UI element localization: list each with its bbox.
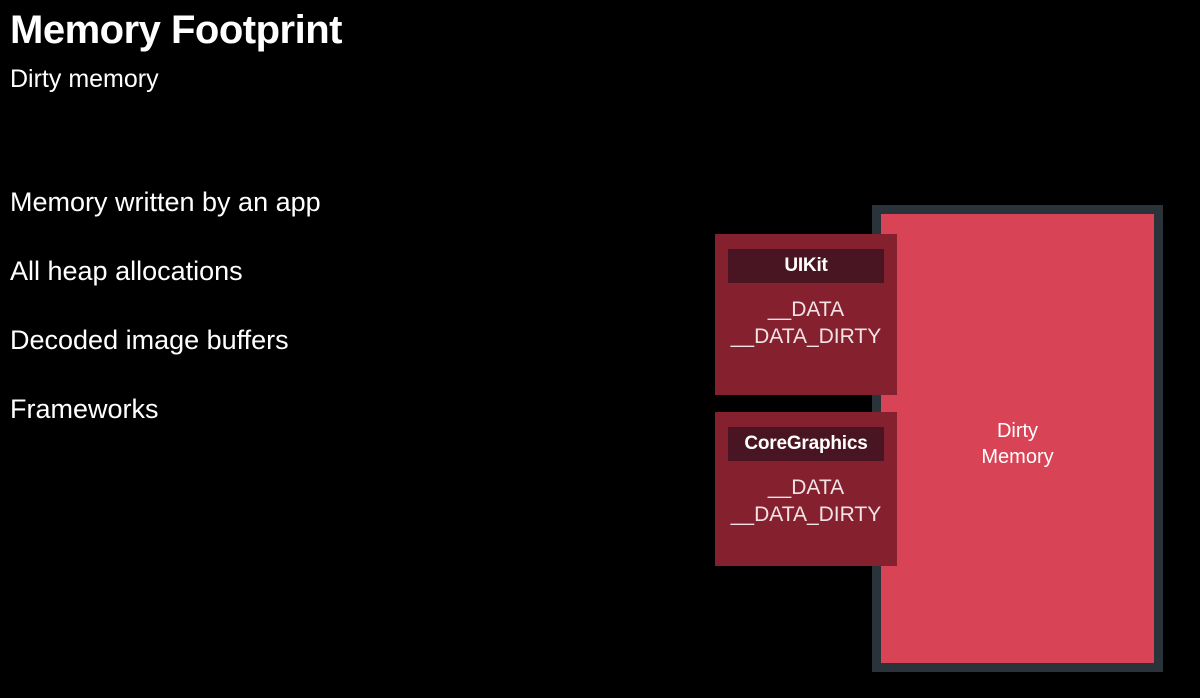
dirty-memory-fill: Dirty Memory: [881, 214, 1154, 663]
section-label: __DATA: [715, 296, 897, 323]
framework-box-coregraphics: CoreGraphics __DATA __DATA_DIRTY: [715, 412, 897, 566]
framework-name-label: CoreGraphics: [744, 433, 867, 455]
section-label: __DATA_DIRTY: [715, 323, 897, 350]
framework-name-label: UIKit: [784, 255, 827, 277]
framework-sections-coregraphics: __DATA __DATA_DIRTY: [715, 474, 897, 528]
framework-header-coregraphics: CoreGraphics: [728, 427, 884, 461]
section-label: __DATA_DIRTY: [715, 501, 897, 528]
framework-sections-uikit: __DATA __DATA_DIRTY: [715, 296, 897, 350]
memory-diagram: Dirty Memory UIKit __DATA __DATA_DIRTY C…: [0, 0, 1200, 698]
framework-box-uikit: UIKit __DATA __DATA_DIRTY: [715, 234, 897, 395]
dirty-memory-panel: Dirty Memory: [872, 205, 1163, 672]
framework-header-uikit: UIKit: [728, 249, 884, 283]
dirty-memory-label: Dirty Memory: [881, 418, 1154, 470]
section-label: __DATA: [715, 474, 897, 501]
